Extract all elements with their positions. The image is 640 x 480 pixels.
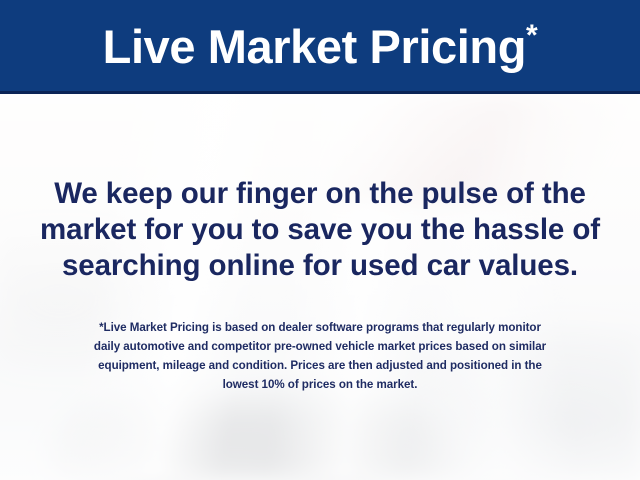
headline-line-3: searching online for used car values. [18,248,622,284]
page-title: Live Market Pricing* [0,0,640,93]
headline: We keep our finger on the pulse of the m… [18,176,622,284]
disclaimer-line-4: lowest 10% of prices on the market. [30,375,610,394]
disclaimer-text: *Live Market Pricing is based on dealer … [30,318,610,394]
page-title-text: Live Market Pricing [103,23,526,70]
disclaimer-line-3: equipment, mileage and condition. Prices… [30,356,610,375]
headline-line-1: We keep our finger on the pulse of the [18,176,622,212]
disclaimer-line-1: *Live Market Pricing is based on dealer … [30,318,610,337]
disclaimer-line-2: daily automotive and competitor pre-owne… [30,337,610,356]
headline-line-2: market for you to save you the hassle of [18,212,622,248]
live-market-pricing-banner: Live Market Pricing* We keep our finger … [0,0,640,480]
